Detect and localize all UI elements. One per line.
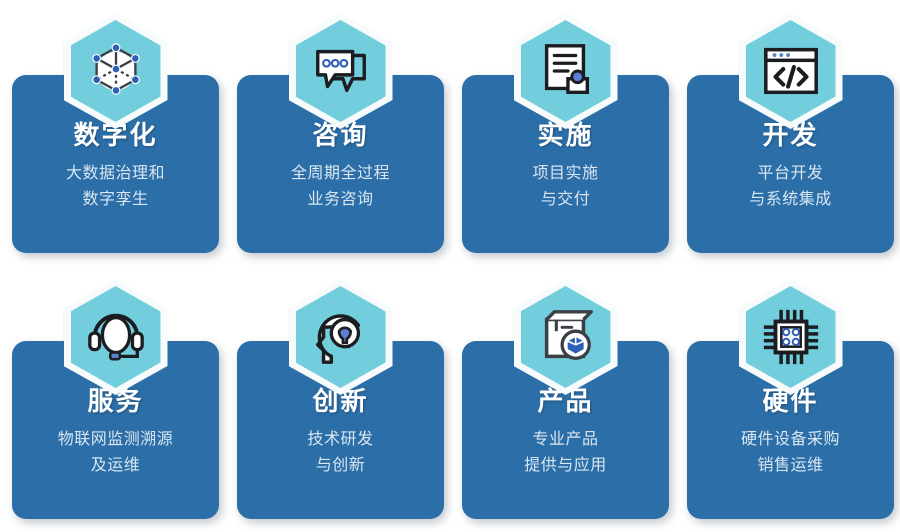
badge-innovation	[289, 279, 393, 395]
cube-network-icon	[85, 40, 147, 102]
service-card-development[interactable]: 开发 平台开发 与系统集成	[687, 75, 894, 253]
document-contract-icon	[535, 40, 597, 102]
cpu-chip-icon	[760, 306, 822, 368]
card-row-bottom: 服务 物联网监测溯源 及运维 创新 技术研发 与创新	[0, 266, 900, 532]
head-lightbulb-icon	[310, 306, 372, 368]
desc-line: 专业产品	[524, 427, 607, 453]
product-box-icon	[535, 306, 597, 368]
badge-digitalization	[64, 13, 168, 129]
desc-line: 硬件设备采购	[741, 427, 840, 453]
badge-development	[739, 13, 843, 129]
card-description: 大数据治理和 数字孪生	[66, 161, 165, 213]
desc-line: 全周期全过程	[291, 161, 390, 187]
service-card-hardware[interactable]: 硬件 硬件设备采购 销售运维	[687, 341, 894, 519]
card-row-top: 数字化 大数据治理和 数字孪生 咨询 全周期全过程	[0, 0, 900, 266]
badge-implementation	[514, 13, 618, 129]
service-card-innovation[interactable]: 创新 技术研发 与创新	[237, 341, 444, 519]
desc-line: 项目实施	[532, 161, 598, 187]
desc-line: 与创新	[307, 453, 373, 479]
service-card-consulting[interactable]: 咨询 全周期全过程 业务咨询	[237, 75, 444, 253]
desc-line: 销售运维	[741, 453, 840, 479]
card-description: 平台开发 与系统集成	[749, 161, 832, 213]
desc-line: 物联网监测溯源	[58, 427, 174, 453]
desc-line: 数字孪生	[66, 187, 165, 213]
desc-line: 平台开发	[749, 161, 832, 187]
headset-support-icon	[85, 306, 147, 368]
desc-line: 业务咨询	[291, 187, 390, 213]
card-description: 技术研发 与创新	[307, 427, 373, 479]
desc-line: 与系统集成	[749, 187, 832, 213]
service-card-product[interactable]: 产品 专业产品 提供与应用	[462, 341, 669, 519]
desc-line: 与交付	[532, 187, 598, 213]
chat-bubbles-icon	[310, 40, 372, 102]
card-description: 项目实施 与交付	[532, 161, 598, 213]
service-card-implementation[interactable]: 实施 项目实施 与交付	[462, 75, 669, 253]
card-description: 硬件设备采购 销售运维	[741, 427, 840, 479]
desc-line: 及运维	[58, 453, 174, 479]
desc-line: 大数据治理和	[66, 161, 165, 187]
badge-product	[514, 279, 618, 395]
code-browser-icon	[760, 40, 822, 102]
badge-consulting	[289, 13, 393, 129]
desc-line: 提供与应用	[524, 453, 607, 479]
badge-hardware	[739, 279, 843, 395]
card-description: 物联网监测溯源 及运维	[58, 427, 174, 479]
badge-service	[64, 279, 168, 395]
service-card-service[interactable]: 服务 物联网监测溯源 及运维	[12, 341, 219, 519]
card-description: 全周期全过程 业务咨询	[291, 161, 390, 213]
service-card-digitalization[interactable]: 数字化 大数据治理和 数字孪生	[12, 75, 219, 253]
card-description: 专业产品 提供与应用	[524, 427, 607, 479]
services-grid: 数字化 大数据治理和 数字孪生 咨询 全周期全过程	[0, 0, 900, 532]
desc-line: 技术研发	[307, 427, 373, 453]
